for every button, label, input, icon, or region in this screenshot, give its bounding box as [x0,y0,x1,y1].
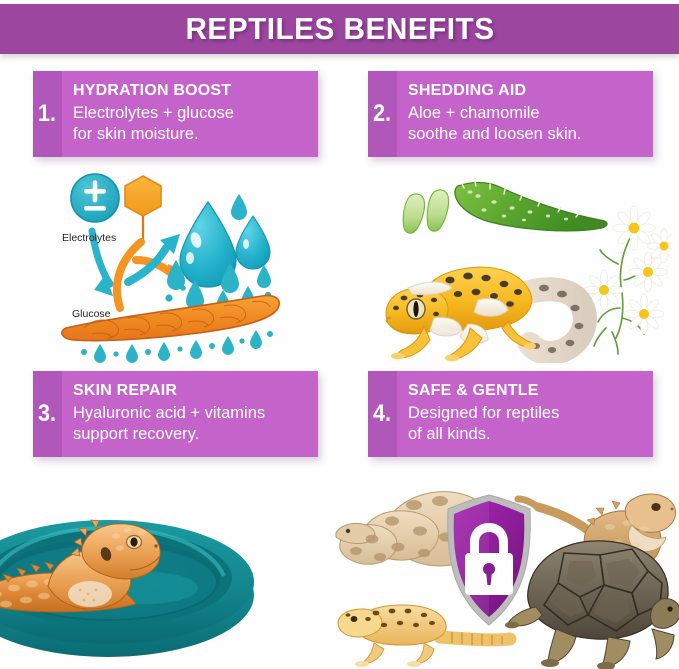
aloe-vera-leaf [455,181,607,231]
benefit-heading-3: SKIN REPAIR [73,382,308,400]
benefit-card-3: 3. SKIN REPAIR Hyaluronic acid + vitamin… [33,371,318,457]
benefit-number-strip-2: 2. [368,71,397,157]
benefit-number-strip-1: 1. [33,71,62,157]
benefit-card-1: 1. HYDRATION BOOST Electrolytes + glucos… [33,71,318,157]
benefit-number-3: 3. [38,402,56,426]
benefit-desc-line1-2: Aloe + chamomile [408,103,643,124]
aloe-vera-slices [403,190,448,233]
electrolytes-circle-icon [71,174,119,222]
benefit-desc-line1-3: Hyaluronic acid + vitamins [73,403,308,424]
leopard-gecko-shedding [386,267,585,361]
infographic-page: REPTILES BENEFITS 1. HYDRATION BOOST Ele… [0,0,679,669]
benefit-heading-1: HYDRATION BOOST [73,82,308,100]
benefit-body-1: HYDRATION BOOST Electrolytes + glucose f… [62,71,318,157]
skin-repair-illustration [0,470,316,669]
benefit-desc-line1-1: Electrolytes + glucose [73,103,308,124]
electrolytes-label: Electrolytes [62,232,116,244]
benefit-card-2: 2. SHEDDING AID Aloe + chamomile soothe … [368,71,653,157]
safe-gentle-illustration [332,465,679,669]
tortoise [505,541,679,669]
glucose-hexagon-icon [125,176,161,240]
benefit-heading-4: SAFE & GENTLE [408,382,643,400]
benefit-number-2: 2. [373,102,391,126]
header-banner: REPTILES BENEFITS [0,4,679,54]
skin-repair-illustration-svg [0,470,316,669]
page-title: REPTILES BENEFITS [185,11,494,47]
benefit-heading-2: SHEDDING AID [408,82,643,100]
benefit-number-strip-4: 4. [368,371,397,457]
safe-gentle-illustration-svg [332,465,679,669]
shedding-illustration-svg [372,168,672,363]
hydration-diagram-svg [40,168,325,363]
shedding-illustration [372,168,672,363]
benefit-desc-line2-4: of all kinds. [408,424,643,445]
benefit-desc-line2-1: for skin moisture. [73,124,308,145]
benefit-number-4: 4. [373,402,391,426]
benefit-card-4: 4. SAFE & GENTLE Designed for reptiles o… [368,371,653,457]
benefit-body-4: SAFE & GENTLE Designed for reptiles of a… [397,371,653,457]
benefit-body-2: SHEDDING AID Aloe + chamomile soothe and… [397,71,653,157]
benefit-number-strip-3: 3. [33,371,62,457]
glucose-label: Glucose [72,308,111,320]
benefit-desc-line2-2: soothe and loosen skin. [408,124,643,145]
hydration-diagram: Electrolytes Glucose [40,168,325,363]
benefit-number-1: 1. [38,102,56,126]
water-droplet-icon [236,216,270,269]
benefit-desc-line1-4: Designed for reptiles [408,403,643,424]
benefit-desc-line2-3: support recovery. [73,424,308,445]
benefit-body-3: SKIN REPAIR Hyaluronic acid + vitamins s… [62,371,318,457]
